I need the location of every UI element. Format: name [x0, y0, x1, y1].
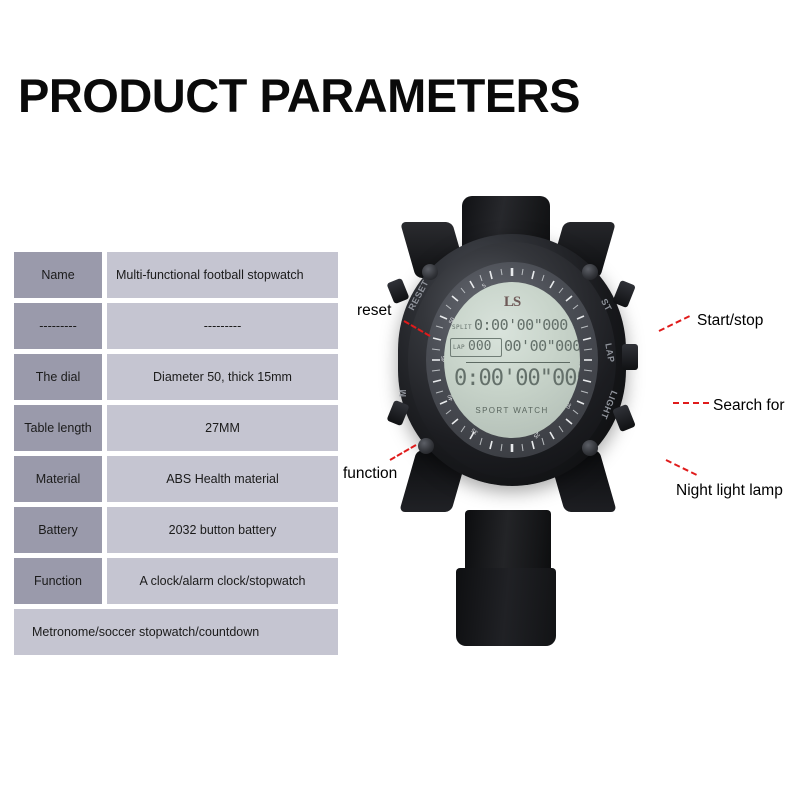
lcd-brand-text: SPORT WATCH: [444, 406, 580, 415]
bezel-screw-top-right: [582, 264, 598, 280]
bezel-screw-bottom-right: [582, 440, 598, 456]
callout-label-search-for: Search for: [713, 397, 785, 415]
product-photo-watch: 5 50 45 40 35 25 20 15 10 LS SPLIT 0:00'…: [350, 150, 800, 680]
lcd-split-value: 0:00'00"000: [474, 316, 568, 334]
bezel-screw-bottom-left: [418, 438, 434, 454]
table-row: Name Multi-functional football stopwatch: [14, 252, 338, 298]
spec-key: Table length: [14, 405, 102, 451]
spec-value: 2032 button battery: [107, 507, 338, 553]
table-row-footer: Metronome/soccer stopwatch/countdown: [14, 609, 338, 655]
spec-key: ---------: [14, 303, 102, 349]
lcd-lap-number: 000: [468, 339, 491, 354]
lcd-main-value: 0:00'00"000: [454, 366, 580, 391]
spec-value: Diameter 50, thick 15mm: [107, 354, 338, 400]
lcd-lap-label: LAP: [453, 344, 465, 351]
spec-value: Multi-functional football stopwatch: [107, 252, 338, 298]
lcd-brand-logo: LS: [444, 294, 580, 311]
spec-key: Function: [14, 558, 102, 604]
callout-label-function: function: [343, 465, 397, 483]
spec-value: ABS Health material: [107, 456, 338, 502]
page-title: PRODUCT PARAMETERS: [18, 68, 580, 123]
table-row: Material ABS Health material: [14, 456, 338, 502]
spec-footer-value: Metronome/soccer stopwatch/countdown: [14, 609, 338, 655]
table-row: Function A clock/alarm clock/stopwatch: [14, 558, 338, 604]
watch-strap-bottom-fold: [456, 568, 556, 646]
spec-key: Name: [14, 252, 102, 298]
callout-label-reset: reset: [357, 302, 391, 320]
spec-value: A clock/alarm clock/stopwatch: [107, 558, 338, 604]
lcd-divider: [466, 362, 570, 363]
callout-label-night-light: Night light lamp: [676, 482, 783, 500]
product-parameters-page: PRODUCT PARAMETERS Name Multi-functional…: [0, 0, 800, 800]
spec-key: Material: [14, 456, 102, 502]
pusher-reset-button[interactable]: [386, 278, 409, 304]
table-row: Table length 27MM: [14, 405, 338, 451]
bezel-screw-top-left: [422, 264, 438, 280]
pusher-light-button[interactable]: [612, 404, 636, 432]
lcd-lap-value: 00'00"000: [504, 337, 580, 355]
spec-key: Battery: [14, 507, 102, 553]
table-row: The dial Diameter 50, thick 15mm: [14, 354, 338, 400]
callout-label-start-stop: Start/stop: [697, 312, 763, 330]
spec-value: 27MM: [107, 405, 338, 451]
spec-table: Name Multi-functional football stopwatch…: [14, 252, 338, 660]
lcd-split-label: SPLIT: [452, 324, 472, 331]
watch-lcd-display: LS SPLIT 0:00'00"000 LAP 000 00'00"000 0…: [444, 282, 580, 438]
table-row: --------- ---------: [14, 303, 338, 349]
pusher-function-button[interactable]: [386, 400, 409, 426]
spec-key: The dial: [14, 354, 102, 400]
pusher-lap-button[interactable]: [622, 344, 638, 370]
table-row: Battery 2032 button battery: [14, 507, 338, 553]
pusher-start-stop-button[interactable]: [612, 280, 636, 308]
leader-line-search-for: [673, 402, 709, 404]
spec-value: ---------: [107, 303, 338, 349]
